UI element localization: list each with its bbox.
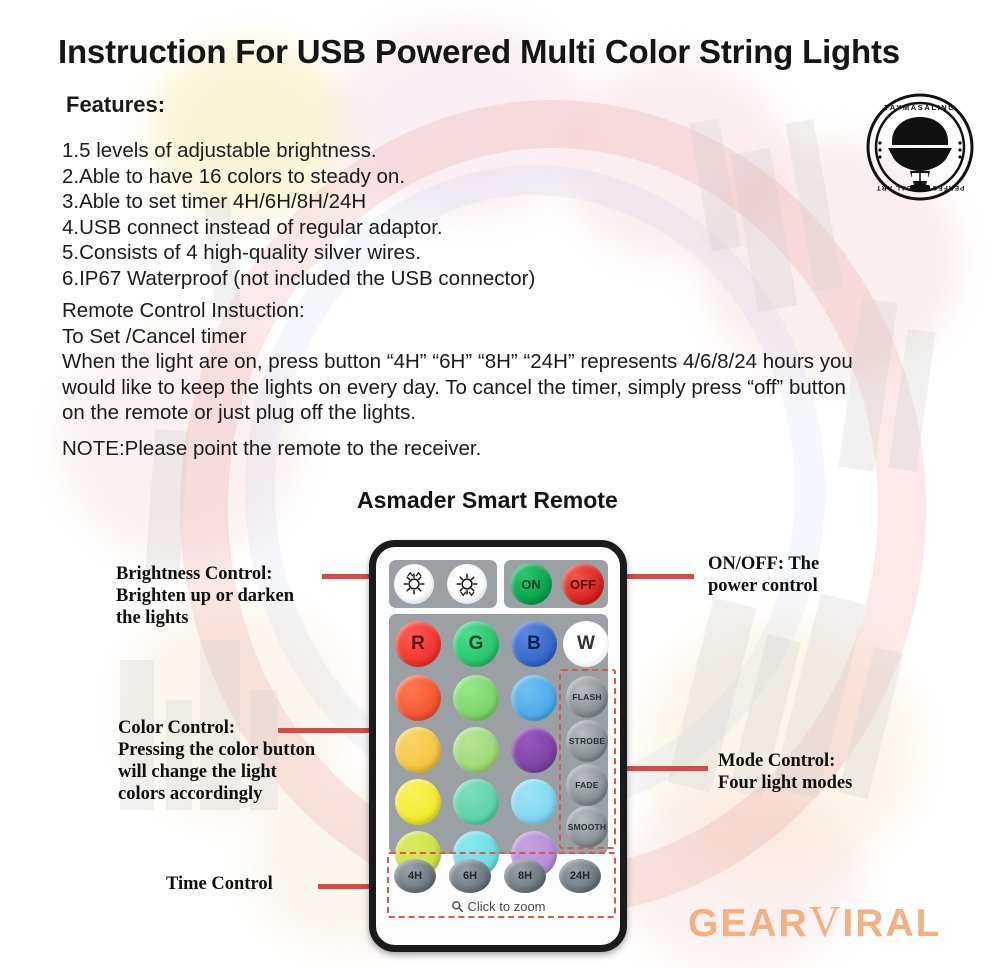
power-off-button[interactable]: OFF xyxy=(562,563,604,605)
features-list: 1.5 levels of adjustable brightness. 2.A… xyxy=(62,138,535,291)
features-heading: Features: xyxy=(66,92,165,118)
color-swatch-button[interactable] xyxy=(511,727,557,773)
color-swatch-button[interactable] xyxy=(511,675,557,721)
feature-item: 2.Able to have 16 colors to steady on. xyxy=(62,164,535,190)
color-swatch-button[interactable] xyxy=(395,727,441,773)
timer-button-8h[interactable]: 8H xyxy=(504,859,546,893)
page-title: Instruction For USB Powered Multi Color … xyxy=(58,33,900,71)
annotation-color-control: Color Control: Pressing the color button… xyxy=(118,717,315,805)
color-swatch-button[interactable] xyxy=(453,727,499,773)
instruction-line: on the remote or just plug off the light… xyxy=(62,400,962,426)
color-button-r[interactable]: R xyxy=(395,621,441,667)
color-swatch-button[interactable] xyxy=(453,779,499,825)
annotation-on-off-control: ON/OFF: The power control xyxy=(708,553,819,597)
feature-item: 4.USB connect instead of regular adaptor… xyxy=(62,215,535,241)
annotation-line: Color Control: xyxy=(118,717,315,739)
color-button-g[interactable]: G xyxy=(453,621,499,667)
note-text: NOTE:Please point the remote to the rece… xyxy=(62,437,481,461)
watermark-part-1: GEAR xyxy=(688,902,809,946)
search-icon xyxy=(451,900,464,913)
feature-item: 5.Consists of 4 high-quality silver wire… xyxy=(62,240,535,266)
timer-button-24h[interactable]: 24H xyxy=(559,859,601,893)
annotation-line: ON/OFF: The xyxy=(708,553,819,575)
brand-seal-logo: TAYMASALING PERFECT MEDAL ART xyxy=(866,93,974,201)
color-swatch-button[interactable] xyxy=(395,779,441,825)
remote-section-heading: Asmader Smart Remote xyxy=(357,487,618,514)
watermark-part-2: IRAL xyxy=(842,902,941,946)
gearviral-watermark: GEARVIRAL xyxy=(688,898,941,949)
annotation-line: will change the light xyxy=(118,761,315,783)
instruction-line: Remote Control Instuction: xyxy=(62,298,962,324)
remote-control-instruction: Remote Control Instuction: To Set /Cance… xyxy=(62,298,962,426)
feature-item: 6.IP67 Waterproof (not included the USB … xyxy=(62,266,535,292)
annotation-line: power control xyxy=(708,575,819,597)
annotation-line: Pressing the color button xyxy=(118,739,315,761)
click-to-zoom-label: Click to zoom xyxy=(467,899,545,914)
timer-button-4h[interactable]: 4H xyxy=(394,859,436,893)
sun-down-icon xyxy=(452,569,482,599)
remote-control-device: ON OFF R G B W FLASH STROBE FADE SMOOTH xyxy=(369,540,627,952)
color-button-w[interactable]: W xyxy=(563,621,609,667)
annotation-line: Brighten up or darken xyxy=(116,585,294,607)
annotation-line: Time Control xyxy=(166,873,273,895)
power-on-button[interactable]: ON xyxy=(510,563,552,605)
color-swatch-button[interactable] xyxy=(453,675,499,721)
color-swatch-button[interactable] xyxy=(395,675,441,721)
annotation-mode-control: Mode Control: Four light modes xyxy=(718,750,852,794)
timer-button-6h[interactable]: 6H xyxy=(449,859,491,893)
annotation-brightness-control: Brightness Control: Brighten up or darke… xyxy=(116,563,294,629)
annotation-line: Mode Control: xyxy=(718,750,852,772)
leader-line-onoff xyxy=(618,574,694,579)
annotation-line: Four light modes xyxy=(718,772,852,794)
svg-text:PERFECT MEDAL ART: PERFECT MEDAL ART xyxy=(876,184,965,191)
annotation-line: the lights xyxy=(116,607,294,629)
color-swatch-button[interactable] xyxy=(511,779,557,825)
sun-up-icon xyxy=(399,569,429,599)
brightness-up-button[interactable] xyxy=(394,564,434,604)
feature-item: 3.Able to set timer 4H/6H/8H/24H xyxy=(62,189,535,215)
watermark-v-glyph: V xyxy=(809,896,843,947)
color-button-b[interactable]: B xyxy=(511,621,557,667)
instruction-line: To Set /Cancel timer xyxy=(62,324,962,350)
mode-button-smooth[interactable]: SMOOTH xyxy=(566,806,608,848)
mode-button-flash[interactable]: FLASH xyxy=(566,676,608,718)
svg-text:TAYMASALING: TAYMASALING xyxy=(884,103,955,112)
click-to-zoom-hint[interactable]: Click to zoom xyxy=(389,899,608,914)
mode-button-fade[interactable]: FADE xyxy=(566,764,608,806)
annotation-time-control: Time Control xyxy=(166,873,273,895)
feature-item: 1.5 levels of adjustable brightness. xyxy=(62,138,535,164)
instruction-line: When the light are on, press button “4H”… xyxy=(62,349,962,375)
instruction-line: would like to keep the lights on every d… xyxy=(62,375,962,401)
brightness-down-button[interactable] xyxy=(447,564,487,604)
annotation-line: Brightness Control: xyxy=(116,563,294,585)
mode-button-strobe[interactable]: STROBE xyxy=(566,720,608,762)
page-root: Instruction For USB Powered Multi Color … xyxy=(0,0,1000,968)
annotation-line: colors accordingly xyxy=(118,783,315,805)
